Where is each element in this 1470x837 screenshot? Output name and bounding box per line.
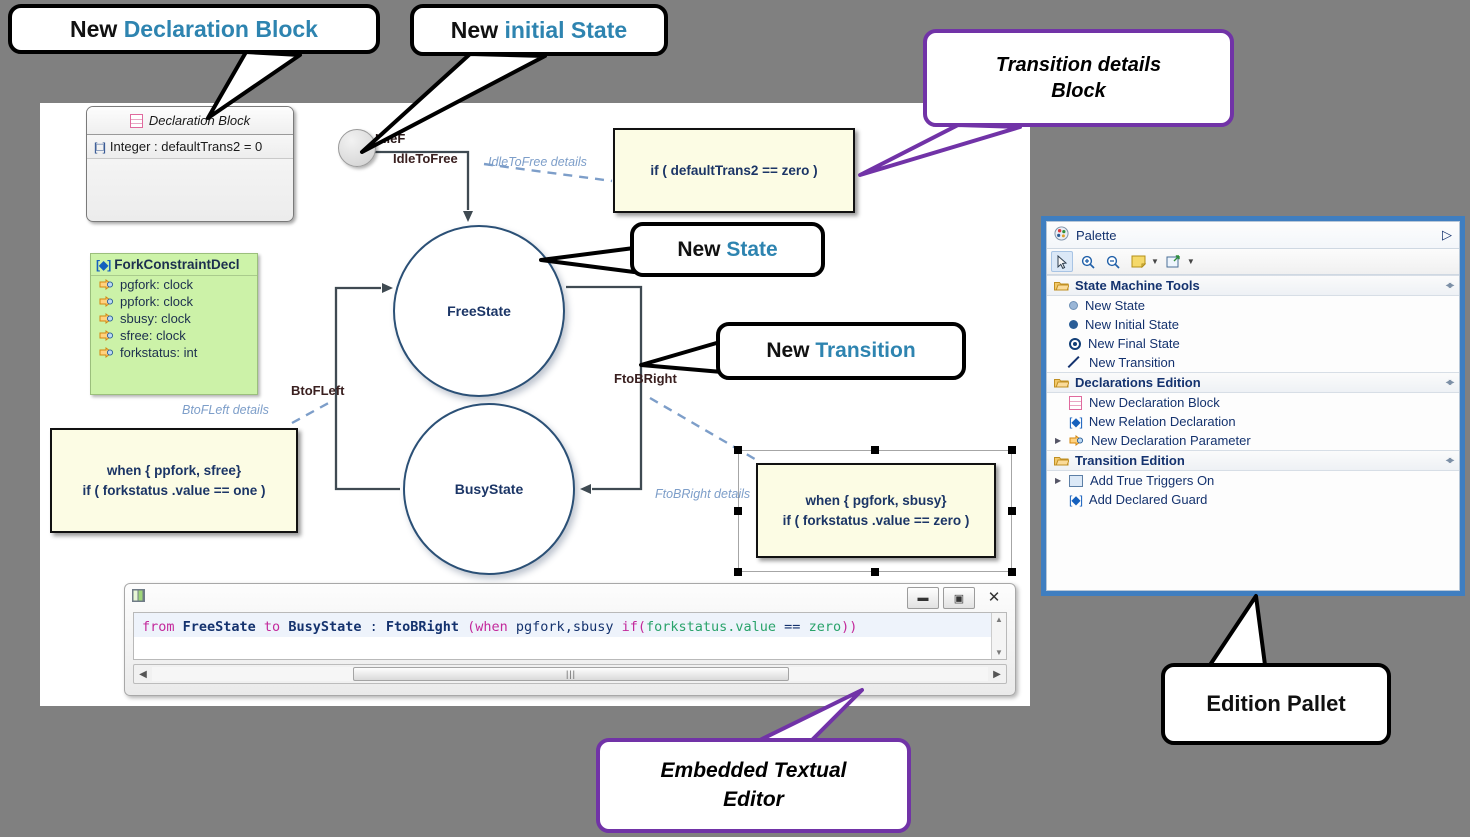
code-token: to: [264, 619, 288, 635]
declaration-block-row[interactable]: [□] Integer : defaultTrans2 = 0: [87, 135, 293, 159]
palette-item-new-declaration-block[interactable]: New Declaration Block: [1047, 393, 1459, 412]
transition-label-ftobright: FtoBRight: [614, 371, 677, 386]
transition-label-idletofree: IdleToFree: [393, 151, 458, 166]
declaration-parameter-icon: [99, 296, 114, 307]
transition-detail-label-idletofree: IdleToFree details: [488, 155, 587, 169]
declaration-parameter-icon: [99, 330, 114, 341]
callout-line-2: Editor: [723, 788, 784, 811]
list-item-label: sfree: clock: [120, 328, 186, 343]
palette-group-label: Transition Edition: [1075, 453, 1185, 468]
initial-state-shape[interactable]: [338, 129, 376, 167]
declaration-block-row-text: Integer : defaultTrans2 = 0: [110, 139, 262, 154]
declaration-block-shape[interactable]: Declaration Block [□] Integer : defaultT…: [86, 106, 294, 222]
callout-highlight: State: [726, 238, 777, 261]
declaration-parameter-icon: [1069, 435, 1084, 446]
code-line[interactable]: from FreeState to BusyState : FtoBRight …: [134, 613, 991, 637]
list-item-label: forkstatus: int: [120, 345, 197, 360]
zoom-out-tool-button[interactable]: [1103, 252, 1123, 271]
callout-new-transition: New Transition: [716, 322, 966, 380]
embedded-textual-editor[interactable]: ▬ ▣ ✕ from FreeState to BusyState : FtoB…: [124, 583, 1016, 696]
scroll-right-arrow[interactable]: ▶: [988, 669, 1006, 680]
code-token: zero: [809, 619, 842, 635]
state-label: BusyState: [455, 481, 523, 497]
palette-group-declarations-edition[interactable]: Declarations Edition ◂▸: [1047, 372, 1459, 393]
transition-detail-label-btofleft: BtoFLeft details: [182, 403, 269, 417]
palette-item-label: Add True Triggers On: [1090, 473, 1214, 488]
transition-label-btofleft: BtoFLeft: [291, 383, 344, 398]
note-line: if ( forkstatus .value == one ): [82, 481, 265, 501]
callout-label: Edition Pallet: [1206, 691, 1345, 717]
palette-title-bar: Palette ▷: [1047, 222, 1459, 249]
note-line: when { pgfork, sbusy}: [783, 491, 970, 511]
vertical-scrollbar[interactable]: ▲ ▼: [991, 613, 1006, 659]
transition-details-note-idletofree[interactable]: if ( defaultTrans2 == zero ): [613, 128, 855, 213]
declaration-block-title: Declaration Block: [149, 113, 250, 128]
palette-item-new-transition[interactable]: New Transition: [1047, 353, 1459, 372]
code-token: FreeState: [183, 619, 264, 635]
palette-group-label: Declarations Edition: [1075, 375, 1201, 390]
chevron-right-icon[interactable]: ▷: [1442, 227, 1452, 243]
callout-embedded-textual-editor: Embedded Textual Editor: [596, 738, 911, 833]
code-token: BusyState: [288, 619, 369, 635]
folder-icon: [1054, 455, 1069, 466]
callout-prefix: New: [677, 238, 726, 261]
declaration-parameter-icon: [99, 347, 114, 358]
list-item[interactable]: ppfork: clock: [91, 293, 257, 310]
collapse-icon[interactable]: ◂▸: [1446, 280, 1452, 291]
palette-item-label: Add Declared Guard: [1089, 492, 1208, 507]
list-item[interactable]: pgfork: clock: [91, 276, 257, 293]
palette-item-label: New Transition: [1089, 355, 1175, 370]
palette-item-label: New Declaration Parameter: [1091, 433, 1251, 448]
palette-item-new-state[interactable]: New State: [1047, 296, 1459, 315]
transition-detail-label-ftobright: FtoBRight details: [655, 487, 750, 501]
initial-state-dot-icon: [1069, 320, 1078, 329]
restore-button[interactable]: ▣: [943, 587, 975, 609]
note-tool-caret-icon[interactable]: ▼: [1151, 257, 1159, 266]
code-token: forkstatus.value: [646, 619, 784, 635]
list-item-label: ppfork: clock: [120, 294, 193, 309]
declaration-block-icon: [130, 114, 143, 128]
callout-line-1: Transition details: [996, 54, 1161, 76]
callout-line-2: Block: [1051, 80, 1105, 102]
editor-icon: [131, 588, 146, 608]
callout-prefix: New: [70, 16, 124, 42]
callout-prefix: New: [766, 339, 815, 362]
palette-title: Palette: [1076, 228, 1116, 243]
callout-new-state: New State: [630, 222, 825, 277]
transition-line-icon: [1069, 356, 1082, 369]
palette-group-label: State Machine Tools: [1075, 278, 1200, 293]
state-label: FreeState: [447, 303, 511, 319]
list-item[interactable]: sbusy: clock: [91, 310, 257, 327]
fork-constraint-declaration-shape[interactable]: [◆] ForkConstraintDecl pgfork: clock ppf…: [90, 253, 258, 395]
edition-palette-panel[interactable]: Palette ▷ ▼ ▼ State Machine Tools ◂▸ New…: [1041, 216, 1465, 596]
declaration-block-header: Declaration Block: [87, 107, 293, 135]
initial-state-label: IdleF: [375, 131, 405, 146]
declaration-parameter-icon: [99, 313, 114, 324]
collapse-icon[interactable]: ◂▸: [1446, 455, 1452, 466]
state-freestate[interactable]: FreeState: [393, 225, 565, 397]
code-token: when: [475, 619, 516, 635]
callout-line-1: Embedded Textual: [661, 759, 847, 782]
note-line: if ( forkstatus .value == zero ): [783, 511, 970, 531]
expand-triangle-icon[interactable]: ▶: [1055, 436, 1061, 445]
callout-new-declaration-block: New Declaration Block: [8, 4, 380, 54]
list-item-label: pgfork: clock: [120, 277, 193, 292]
horizontal-scrollbar[interactable]: ◀ ||| ▶: [133, 664, 1007, 684]
palette-item-new-declaration-parameter[interactable]: ▶ New Declaration Parameter: [1047, 431, 1459, 450]
folder-icon: [1054, 377, 1069, 388]
fork-declaration-header: [◆] ForkConstraintDecl: [91, 254, 257, 276]
declaration-parameter-icon: [99, 279, 114, 290]
scroll-thumb[interactable]: |||: [353, 667, 790, 681]
select-tool-button[interactable]: [1051, 251, 1073, 272]
scroll-track[interactable]: |||: [152, 667, 988, 681]
note-line: if ( defaultTrans2 == zero ): [650, 161, 817, 181]
list-item[interactable]: forkstatus: int: [91, 344, 257, 361]
palette-icon: [1054, 226, 1069, 244]
list-item-label: sbusy: clock: [120, 311, 191, 326]
callout-edition-pallet: Edition Pallet: [1161, 663, 1391, 745]
code-area[interactable]: from FreeState to BusyState : FtoBRight …: [133, 612, 1007, 660]
editor-titlebar: ▬ ▣ ✕: [125, 584, 1015, 612]
relation-declaration-icon: [◆]: [96, 258, 110, 272]
palette-group-state-machine-tools[interactable]: State Machine Tools ◂▸: [1047, 275, 1459, 296]
palette-item-label: New Declaration Block: [1089, 395, 1220, 410]
palette-item-new-initial-state[interactable]: New Initial State: [1047, 315, 1459, 334]
relation-declaration-icon: [□]: [94, 140, 105, 154]
declaration-block-icon: [1069, 396, 1082, 410]
callout-highlight: Declaration Block: [124, 16, 318, 42]
fork-declaration-title: ForkConstraintDecl: [114, 257, 239, 272]
scroll-left-arrow[interactable]: ◀: [134, 669, 152, 680]
palette-item-label: New State: [1085, 298, 1145, 313]
scroll-down-arrow[interactable]: ▼: [995, 648, 1003, 657]
collapse-icon[interactable]: ◂▸: [1446, 377, 1452, 388]
palette-item-new-final-state[interactable]: New Final State: [1047, 334, 1459, 353]
marquee-tool-button[interactable]: [1164, 252, 1184, 271]
palette-item-label: New Initial State: [1085, 317, 1179, 332]
palette-item-add-declared-guard[interactable]: [◆] Add Declared Guard: [1047, 490, 1459, 509]
code-token: )): [841, 619, 857, 635]
folder-icon: [1054, 280, 1069, 291]
callout-prefix: New: [451, 17, 505, 43]
relation-declaration-icon: [◆]: [1069, 415, 1082, 429]
state-dot-icon: [1069, 301, 1078, 310]
callout-highlight: Transition: [815, 339, 915, 362]
code-token: :: [370, 619, 386, 635]
transition-details-note-btofleft[interactable]: when { ppfork, sfree} if ( forkstatus .v…: [50, 428, 298, 533]
marquee-tool-caret-icon[interactable]: ▼: [1187, 257, 1195, 266]
note-tool-button[interactable]: [1128, 252, 1148, 271]
palette-item-label: New Relation Declaration: [1089, 414, 1236, 429]
expand-triangle-icon[interactable]: ▶: [1055, 476, 1061, 485]
callout-transition-details-block: Transition details Block: [923, 29, 1234, 127]
scroll-up-arrow[interactable]: ▲: [995, 615, 1003, 624]
list-item[interactable]: sfree: clock: [91, 327, 257, 344]
relation-declaration-icon: [◆]: [1069, 493, 1082, 507]
zoom-in-tool-button[interactable]: [1078, 252, 1098, 271]
code-token: ==: [784, 619, 808, 635]
editor-window-buttons: ▬ ▣ ✕: [907, 587, 1009, 609]
code-token: pgfork,sbusy: [516, 619, 622, 635]
transition-details-note-ftobright[interactable]: when { pgfork, sbusy} if ( forkstatus .v…: [756, 463, 996, 558]
callout-highlight: initial State: [504, 17, 627, 43]
palette-item-new-relation-declaration[interactable]: [◆] New Relation Declaration: [1047, 412, 1459, 431]
code-token: from: [142, 619, 183, 635]
code-token: if: [622, 619, 638, 635]
note-line: when { ppfork, sfree}: [82, 461, 265, 481]
minimize-button[interactable]: ▬: [907, 587, 939, 609]
palette-toolbar[interactable]: ▼ ▼: [1047, 249, 1459, 275]
palette-item-label: New Final State: [1088, 336, 1180, 351]
picture-icon: [1069, 475, 1083, 487]
palette-item-add-true-triggers-on[interactable]: ▶ Add True Triggers On: [1047, 471, 1459, 490]
close-button[interactable]: ✕: [979, 587, 1009, 607]
code-token: (: [638, 619, 646, 635]
palette-group-transition-edition[interactable]: Transition Edition ◂▸: [1047, 450, 1459, 471]
state-busystate[interactable]: BusyState: [403, 403, 575, 575]
callout-new-initial-state: New initial State: [410, 4, 668, 56]
final-state-dot-icon: [1069, 338, 1081, 350]
code-token: FtoBRight: [386, 619, 467, 635]
